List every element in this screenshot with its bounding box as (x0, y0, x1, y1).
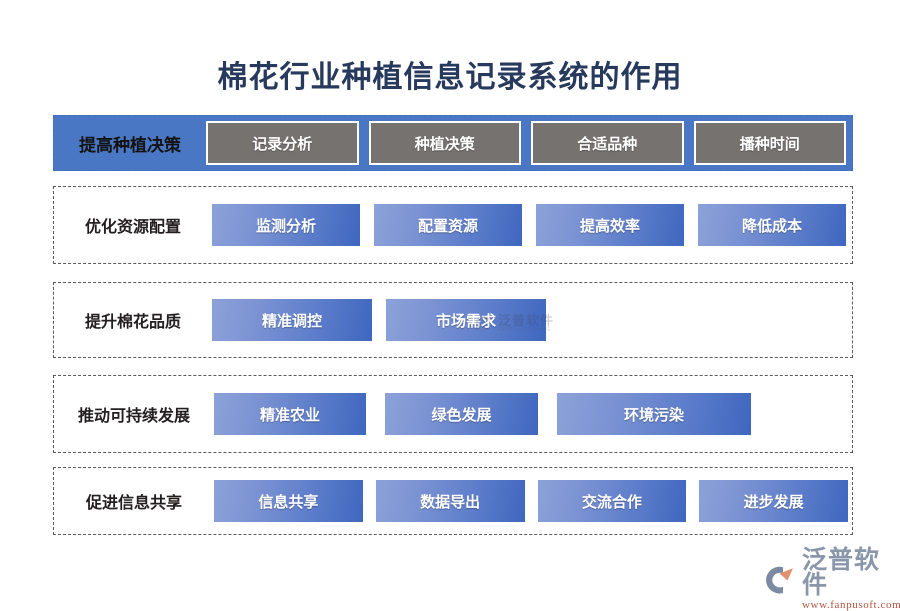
chip-group: 记录分析 种植决策 合适品种 播种时间 (206, 116, 852, 170)
row-label: 优化资源配置 (54, 213, 212, 237)
logo-url: www.fanpusoft.com (802, 600, 900, 611)
chip-item[interactable]: 配置资源 (374, 204, 522, 246)
chip-item[interactable]: 种植决策 (369, 121, 522, 165)
chip-group: 监测分析 配置资源 提高效率 降低成本 (212, 187, 852, 263)
chip-item[interactable]: 精准农业 (214, 393, 366, 435)
fanpu-logo-mark-icon (762, 565, 796, 595)
page-title: 棉花行业种植信息记录系统的作用 (0, 58, 900, 98)
row-label: 提升棉花品质 (54, 308, 212, 332)
chip-item[interactable]: 合适品种 (531, 121, 684, 165)
row-label: 推动可持续发展 (54, 402, 214, 426)
chip-item[interactable]: 交流合作 (538, 480, 687, 522)
chip-item[interactable]: 监测分析 (212, 204, 360, 246)
chip-group: 精准调控 市场需求 (212, 283, 852, 357)
row-label: 促进信息共享 (54, 489, 214, 513)
chip-item[interactable]: 环境污染 (557, 393, 751, 435)
chip-item[interactable]: 市场需求 (386, 299, 546, 341)
row-label: 提高种植决策 (54, 131, 206, 156)
chip-item[interactable]: 绿色发展 (385, 393, 538, 435)
chip-item[interactable]: 提高效率 (536, 204, 684, 246)
chip-group: 信息共享 数据导出 交流合作 进步发展 (214, 468, 852, 534)
chip-item[interactable]: 数据导出 (376, 480, 525, 522)
chip-item[interactable]: 进步发展 (699, 480, 848, 522)
chip-item[interactable]: 记录分析 (206, 121, 359, 165)
chip-item[interactable]: 信息共享 (214, 480, 363, 522)
category-row-improve-cotton-quality: 提升棉花品质 精准调控 市场需求 (53, 282, 853, 358)
chip-item[interactable]: 降低成本 (698, 204, 846, 246)
chip-item[interactable]: 播种时间 (694, 121, 847, 165)
brand-logo: 泛普软件 www.fanpusoft.com (762, 548, 900, 611)
category-row-promote-sustainable-development: 推动可持续发展 精准农业 绿色发展 环境污染 (53, 375, 853, 453)
infographic-page: 棉花行业种植信息记录系统的作用 提高种植决策 记录分析 种植决策 合适品种 播种… (0, 0, 900, 600)
logo-name: 泛普软件 (802, 548, 900, 598)
category-row-optimize-resource-allocation: 优化资源配置 监测分析 配置资源 提高效率 降低成本 (53, 186, 853, 264)
category-row-promote-information-sharing: 促进信息共享 信息共享 数据导出 交流合作 进步发展 (53, 467, 853, 535)
chip-item[interactable]: 精准调控 (212, 299, 372, 341)
category-row-improve-planting-decision: 提高种植决策 记录分析 种植决策 合适品种 播种时间 (53, 115, 853, 171)
chip-group: 精准农业 绿色发展 环境污染 (214, 376, 852, 452)
